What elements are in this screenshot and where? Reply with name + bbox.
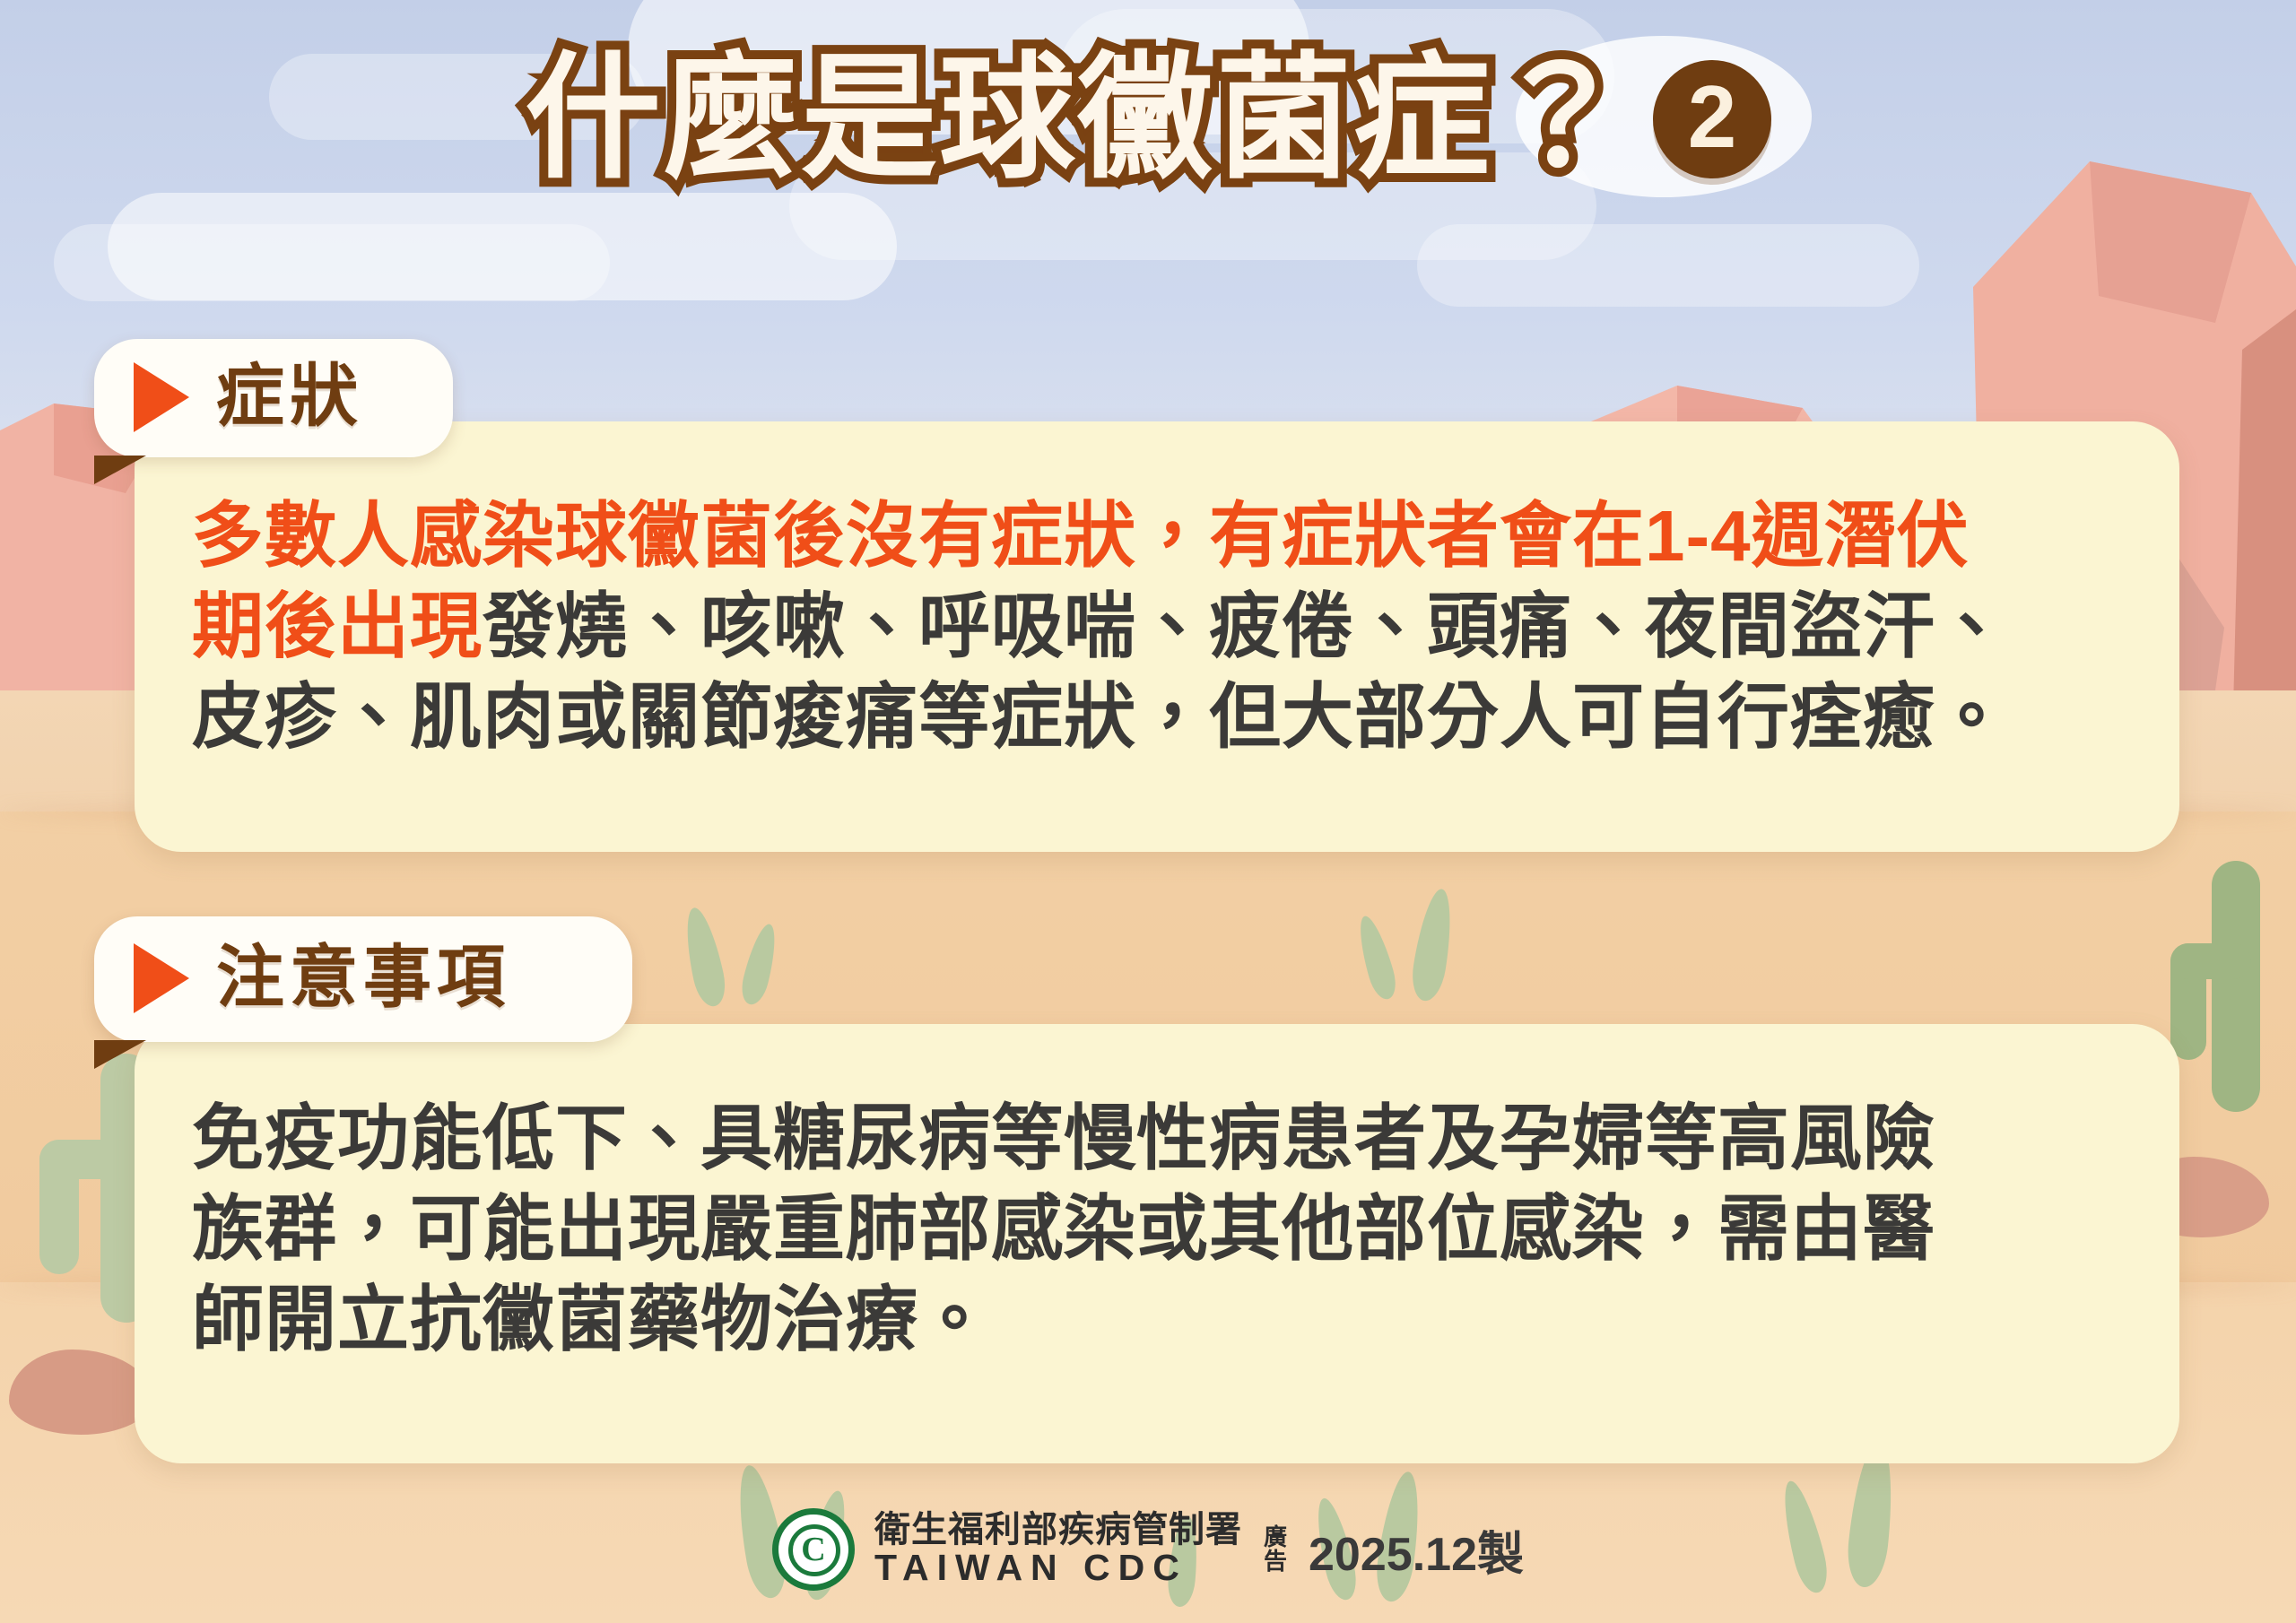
precautions-card: 免疫功能低下、具糖尿病等慢性病患者及孕婦等高風險 族群，可能出現嚴重肺部感染或其… xyxy=(135,1024,2179,1463)
symptoms-highlight: 期後出現 xyxy=(192,586,483,666)
production-date: 2025.12製 xyxy=(1309,1516,1524,1584)
precautions-plain: 族群，可能出現嚴重肺部感染或其他部位感染，需由醫 xyxy=(192,1189,1935,1269)
cactus-plant xyxy=(2170,861,2296,1112)
tab-symptoms-label: 症狀 xyxy=(216,363,363,431)
agency-name-block: 衛生福利部疾病管制署 TAIWAN CDC xyxy=(874,1511,1242,1588)
symptoms-plain: 發燒、咳嗽、呼吸喘、疲倦、頭痛、夜間盜汗、 xyxy=(483,586,2008,666)
agency-name-en: TAIWAN CDC xyxy=(874,1549,1242,1587)
symptoms-plain: 皮疹、肌肉或關節痠痛等症狀，但大部分人可自行痊癒。 xyxy=(192,677,2008,757)
cloud-shape xyxy=(269,54,646,140)
infographic-poster: 什麼是球黴菌症？ 2 多數人感染球黴菌後沒有症狀，有症狀者會在1-4週潛伏 期後… xyxy=(0,0,2296,1623)
symptoms-line: 皮疹、肌肉或關節痠痛等症狀，但大部分人可自行痊癒。 xyxy=(192,673,2126,763)
precautions-plain: 師開立抗黴菌藥物治療。 xyxy=(192,1280,991,1359)
footer-bar: C 衛生福利部疾病管制署 TAIWAN CDC 廣 告 2025.12製 xyxy=(0,1508,2296,1591)
cloud-shape xyxy=(1417,224,1919,307)
play-triangle-icon xyxy=(134,943,189,1013)
seal-glyph: C xyxy=(801,1532,825,1567)
play-triangle-icon xyxy=(134,362,189,432)
tab-precautions-label: 注意事項 xyxy=(216,944,510,1012)
precautions-line: 師開立抗黴菌藥物治療。 xyxy=(192,1275,2126,1366)
tab-precautions[interactable]: 注意事項 xyxy=(94,916,632,1042)
tab-symptoms[interactable]: 症狀 xyxy=(94,339,453,457)
agency-name-zh: 衛生福利部疾病管制署 xyxy=(874,1511,1242,1549)
symptoms-card-body: 多數人感染球黴菌後沒有症狀，有症狀者會在1-4週潛伏 期後出現發燒、咳嗽、呼吸喘… xyxy=(135,421,2179,805)
tab-fold-corner xyxy=(94,1040,146,1069)
taiwan-cdc-seal-icon: C xyxy=(772,1508,855,1591)
precautions-line: 族群，可能出現嚴重肺部感染或其他部位感染，需由醫 xyxy=(192,1185,2126,1275)
tab-fold-corner xyxy=(94,456,146,484)
precautions-plain: 免疫功能低下、具糖尿病等慢性病患者及孕婦等高風險 xyxy=(192,1098,1935,1178)
symptoms-highlight: 多數人感染球黴菌後沒有症狀，有症狀者會在1-4週潛伏 xyxy=(192,496,1970,576)
symptoms-card: 多數人感染球黴菌後沒有症狀，有症狀者會在1-4週潛伏 期後出現發燒、咳嗽、呼吸喘… xyxy=(135,421,2179,852)
symptoms-line: 期後出現發燒、咳嗽、呼吸喘、疲倦、頭痛、夜間盜汗、 xyxy=(192,582,2126,673)
precautions-card-body: 免疫功能低下、具糖尿病等慢性病患者及孕婦等高風險 族群，可能出現嚴重肺部感染或其… xyxy=(135,1024,2179,1408)
symptoms-line: 多數人感染球黴菌後沒有症狀，有症狀者會在1-4週潛伏 xyxy=(192,491,2126,582)
advertisement-mark: 廣 告 xyxy=(1262,1525,1289,1575)
precautions-line: 免疫功能低下、具糖尿病等慢性病患者及孕婦等高風險 xyxy=(192,1094,2126,1185)
